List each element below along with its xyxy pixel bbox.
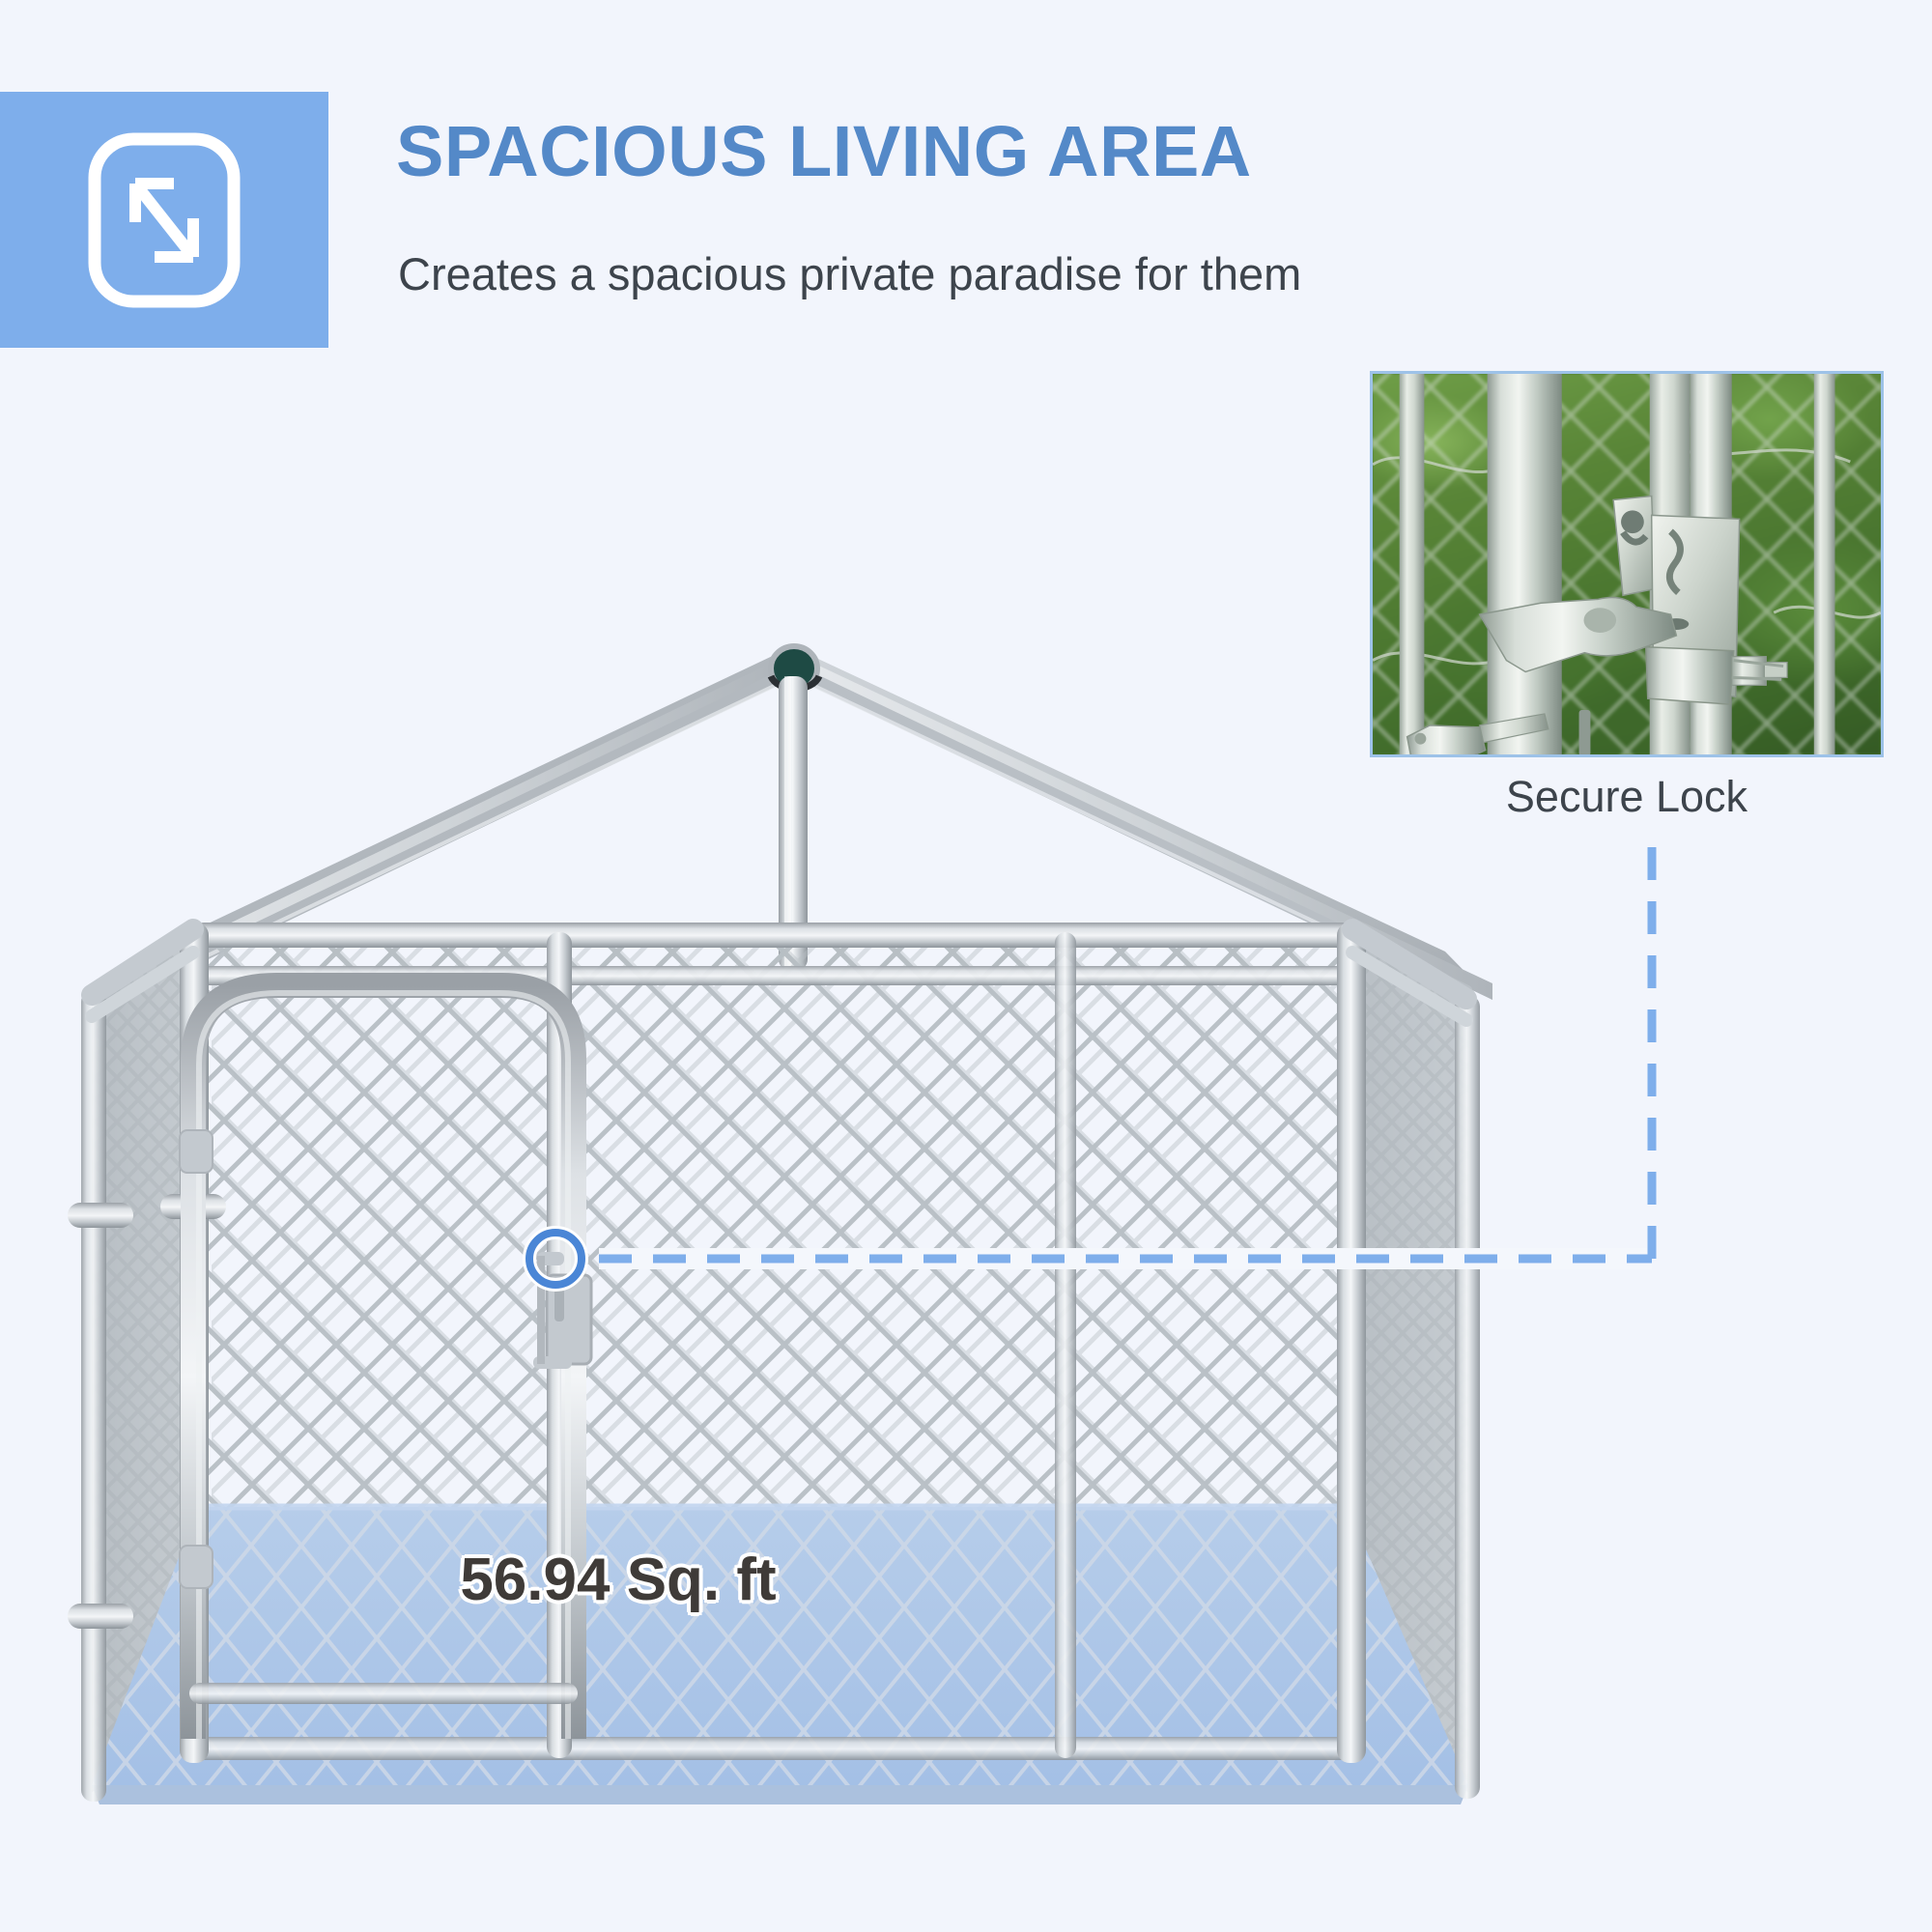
floor-area-label: 56.94 Sq. ft [0, 1546, 1236, 1614]
dog-kennel-illustration [0, 0, 1932, 1932]
infographic-canvas: SPACIOUS LIVING AREA Creates a spacious … [0, 0, 1932, 1932]
